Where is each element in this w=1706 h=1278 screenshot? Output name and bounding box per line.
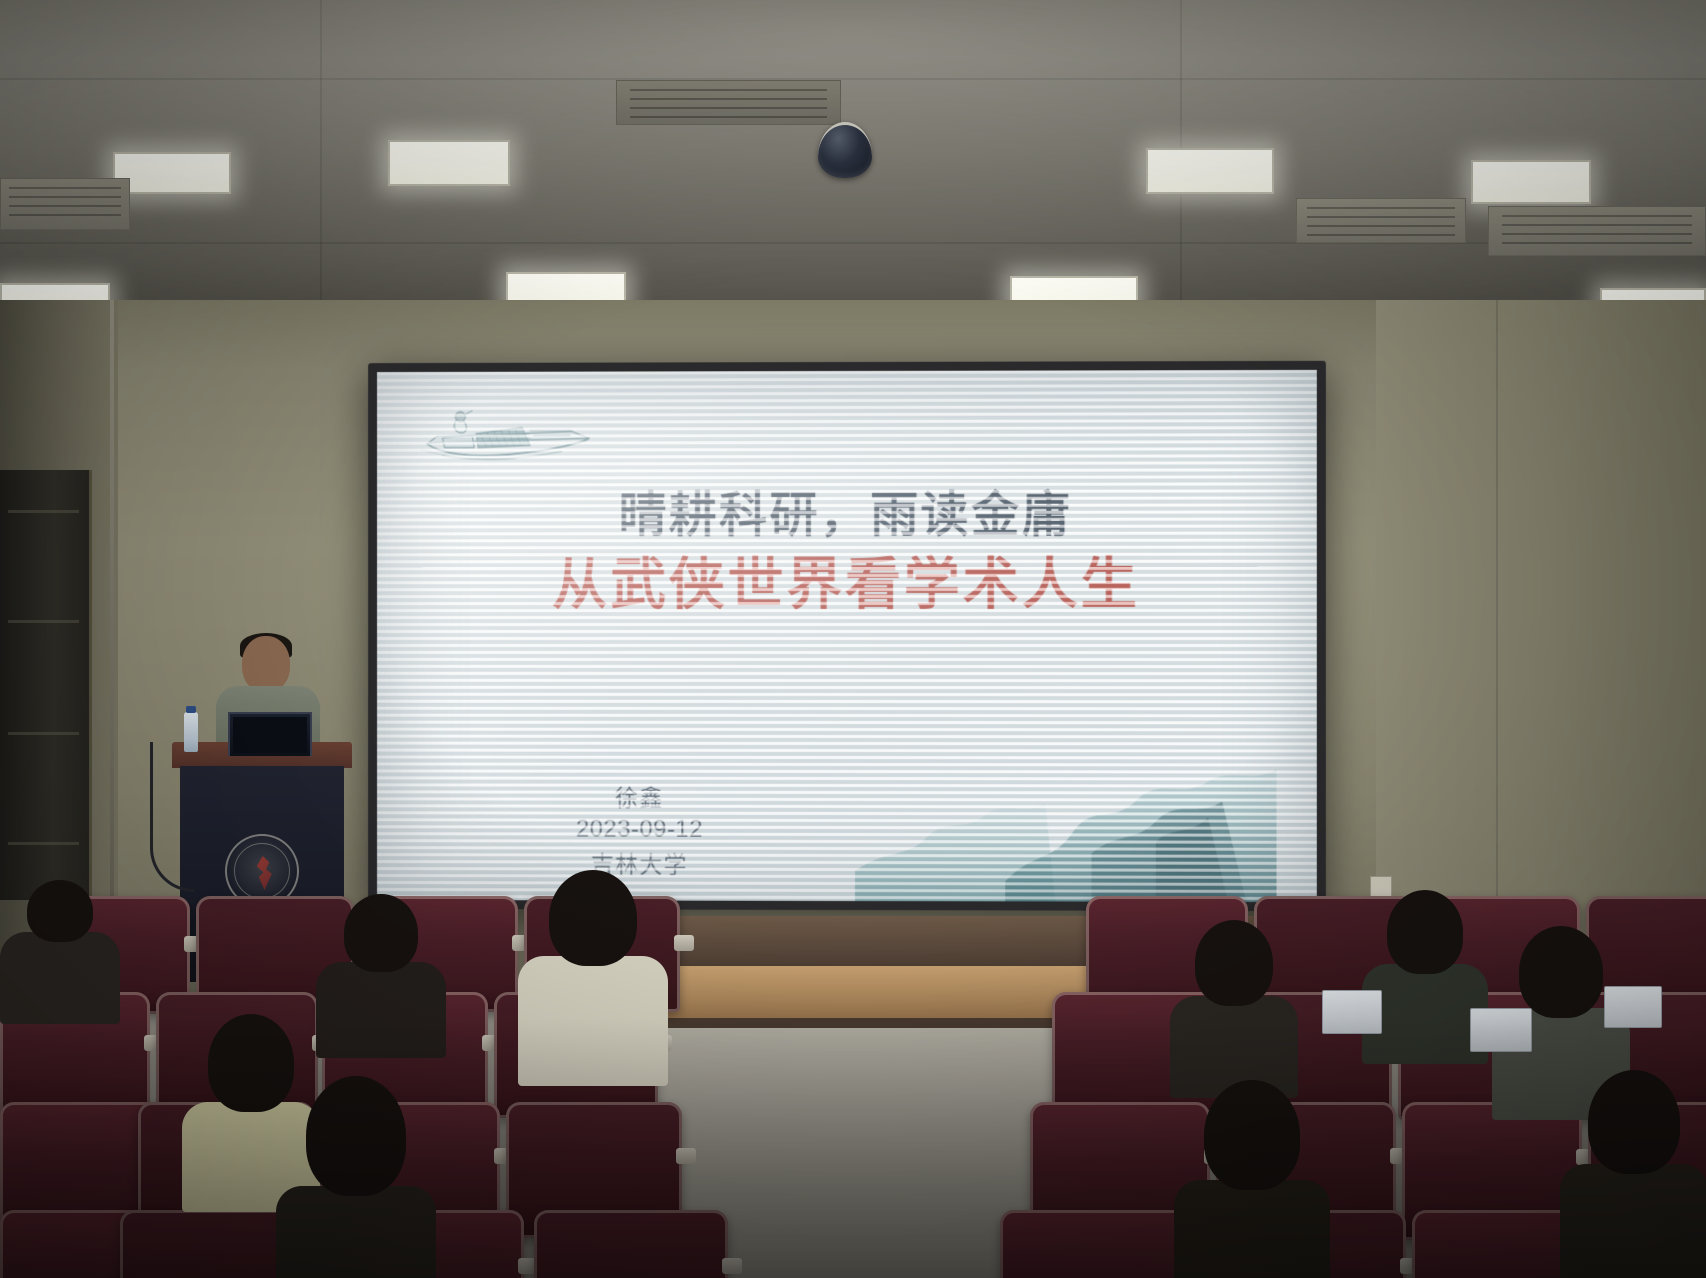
- audience-head: [1588, 1070, 1680, 1174]
- auditorium-seat[interactable]: [534, 1210, 728, 1278]
- slide-title-line-1: 晴耕科研，雨读金庸: [377, 474, 1317, 545]
- slide-date: 2023-09-12: [500, 815, 779, 843]
- audience-laptop-1[interactable]: [1322, 990, 1382, 1034]
- audience-head: [549, 870, 637, 966]
- audience-member-3: [518, 870, 668, 1096]
- podium-laptop-screen: [233, 717, 307, 753]
- microphone-cable: [150, 742, 194, 892]
- audience-member-10: [1560, 1070, 1706, 1278]
- audience-seating: [0, 880, 1706, 1278]
- water-bottle: [184, 712, 198, 752]
- seat-armrest: [674, 935, 694, 951]
- audience-head: [1204, 1080, 1300, 1190]
- ink-boat-illustration: [413, 397, 612, 469]
- audience-torso: [518, 956, 668, 1086]
- audience-head: [1387, 890, 1463, 974]
- audience-torso: [276, 1186, 436, 1278]
- podium-laptop[interactable]: [228, 712, 312, 756]
- seat-armrest: [722, 1258, 742, 1274]
- audience-member-5: [276, 1076, 436, 1278]
- audience-laptop-3[interactable]: [1604, 986, 1662, 1028]
- projection-screen: 晴耕科研，雨读金庸 从武侠世界看学术人生 徐鑫 2023-09-12 吉林大学: [377, 370, 1317, 902]
- audience-head: [27, 880, 93, 942]
- seat-armrest: [676, 1148, 696, 1164]
- ink-mountain-illustration: [855, 721, 1277, 902]
- air-vent-left-icon: [0, 178, 130, 230]
- audience-member-2: [316, 894, 446, 1068]
- slide-presenter-info: 徐鑫 2023-09-12 吉林大学: [500, 779, 779, 880]
- left-door[interactable]: [0, 470, 92, 900]
- presenter-head: [242, 636, 290, 692]
- audience-head: [344, 894, 418, 972]
- air-vent-center-icon: [616, 80, 841, 125]
- audience-laptop-2[interactable]: [1470, 1008, 1532, 1052]
- panel-light-3-icon: [1146, 148, 1274, 194]
- audience-head: [306, 1076, 406, 1196]
- slide-title-line-2: 从武侠世界看学术人生: [377, 539, 1317, 620]
- lecture-hall-photo: 晴耕科研，雨读金庸 从武侠世界看学术人生 徐鑫 2023-09-12 吉林大学: [0, 0, 1706, 1278]
- air-vent-far-right-icon: [1488, 206, 1706, 256]
- audience-torso: [0, 932, 120, 1024]
- panel-light-1-icon: [113, 152, 231, 194]
- audience-head: [1519, 926, 1603, 1018]
- slide-presenter-name: 徐鑫: [500, 779, 779, 813]
- projection-screen-bezel: 晴耕科研，雨读金庸 从武侠世界看学术人生 徐鑫 2023-09-12 吉林大学: [368, 361, 1326, 911]
- bottle-cap: [186, 706, 196, 713]
- audience-member-9: [1174, 1080, 1330, 1278]
- audience-torso: [1174, 1180, 1330, 1278]
- air-vent-right-icon: [1296, 198, 1466, 243]
- panel-light-4-icon: [1471, 160, 1591, 204]
- auditorium-seat[interactable]: [1000, 1210, 1200, 1278]
- panel-light-2-icon: [388, 140, 510, 186]
- audience-member-1: [0, 880, 120, 1034]
- audience-torso: [1560, 1164, 1706, 1278]
- audience-head: [1195, 920, 1273, 1006]
- audience-torso: [316, 962, 446, 1058]
